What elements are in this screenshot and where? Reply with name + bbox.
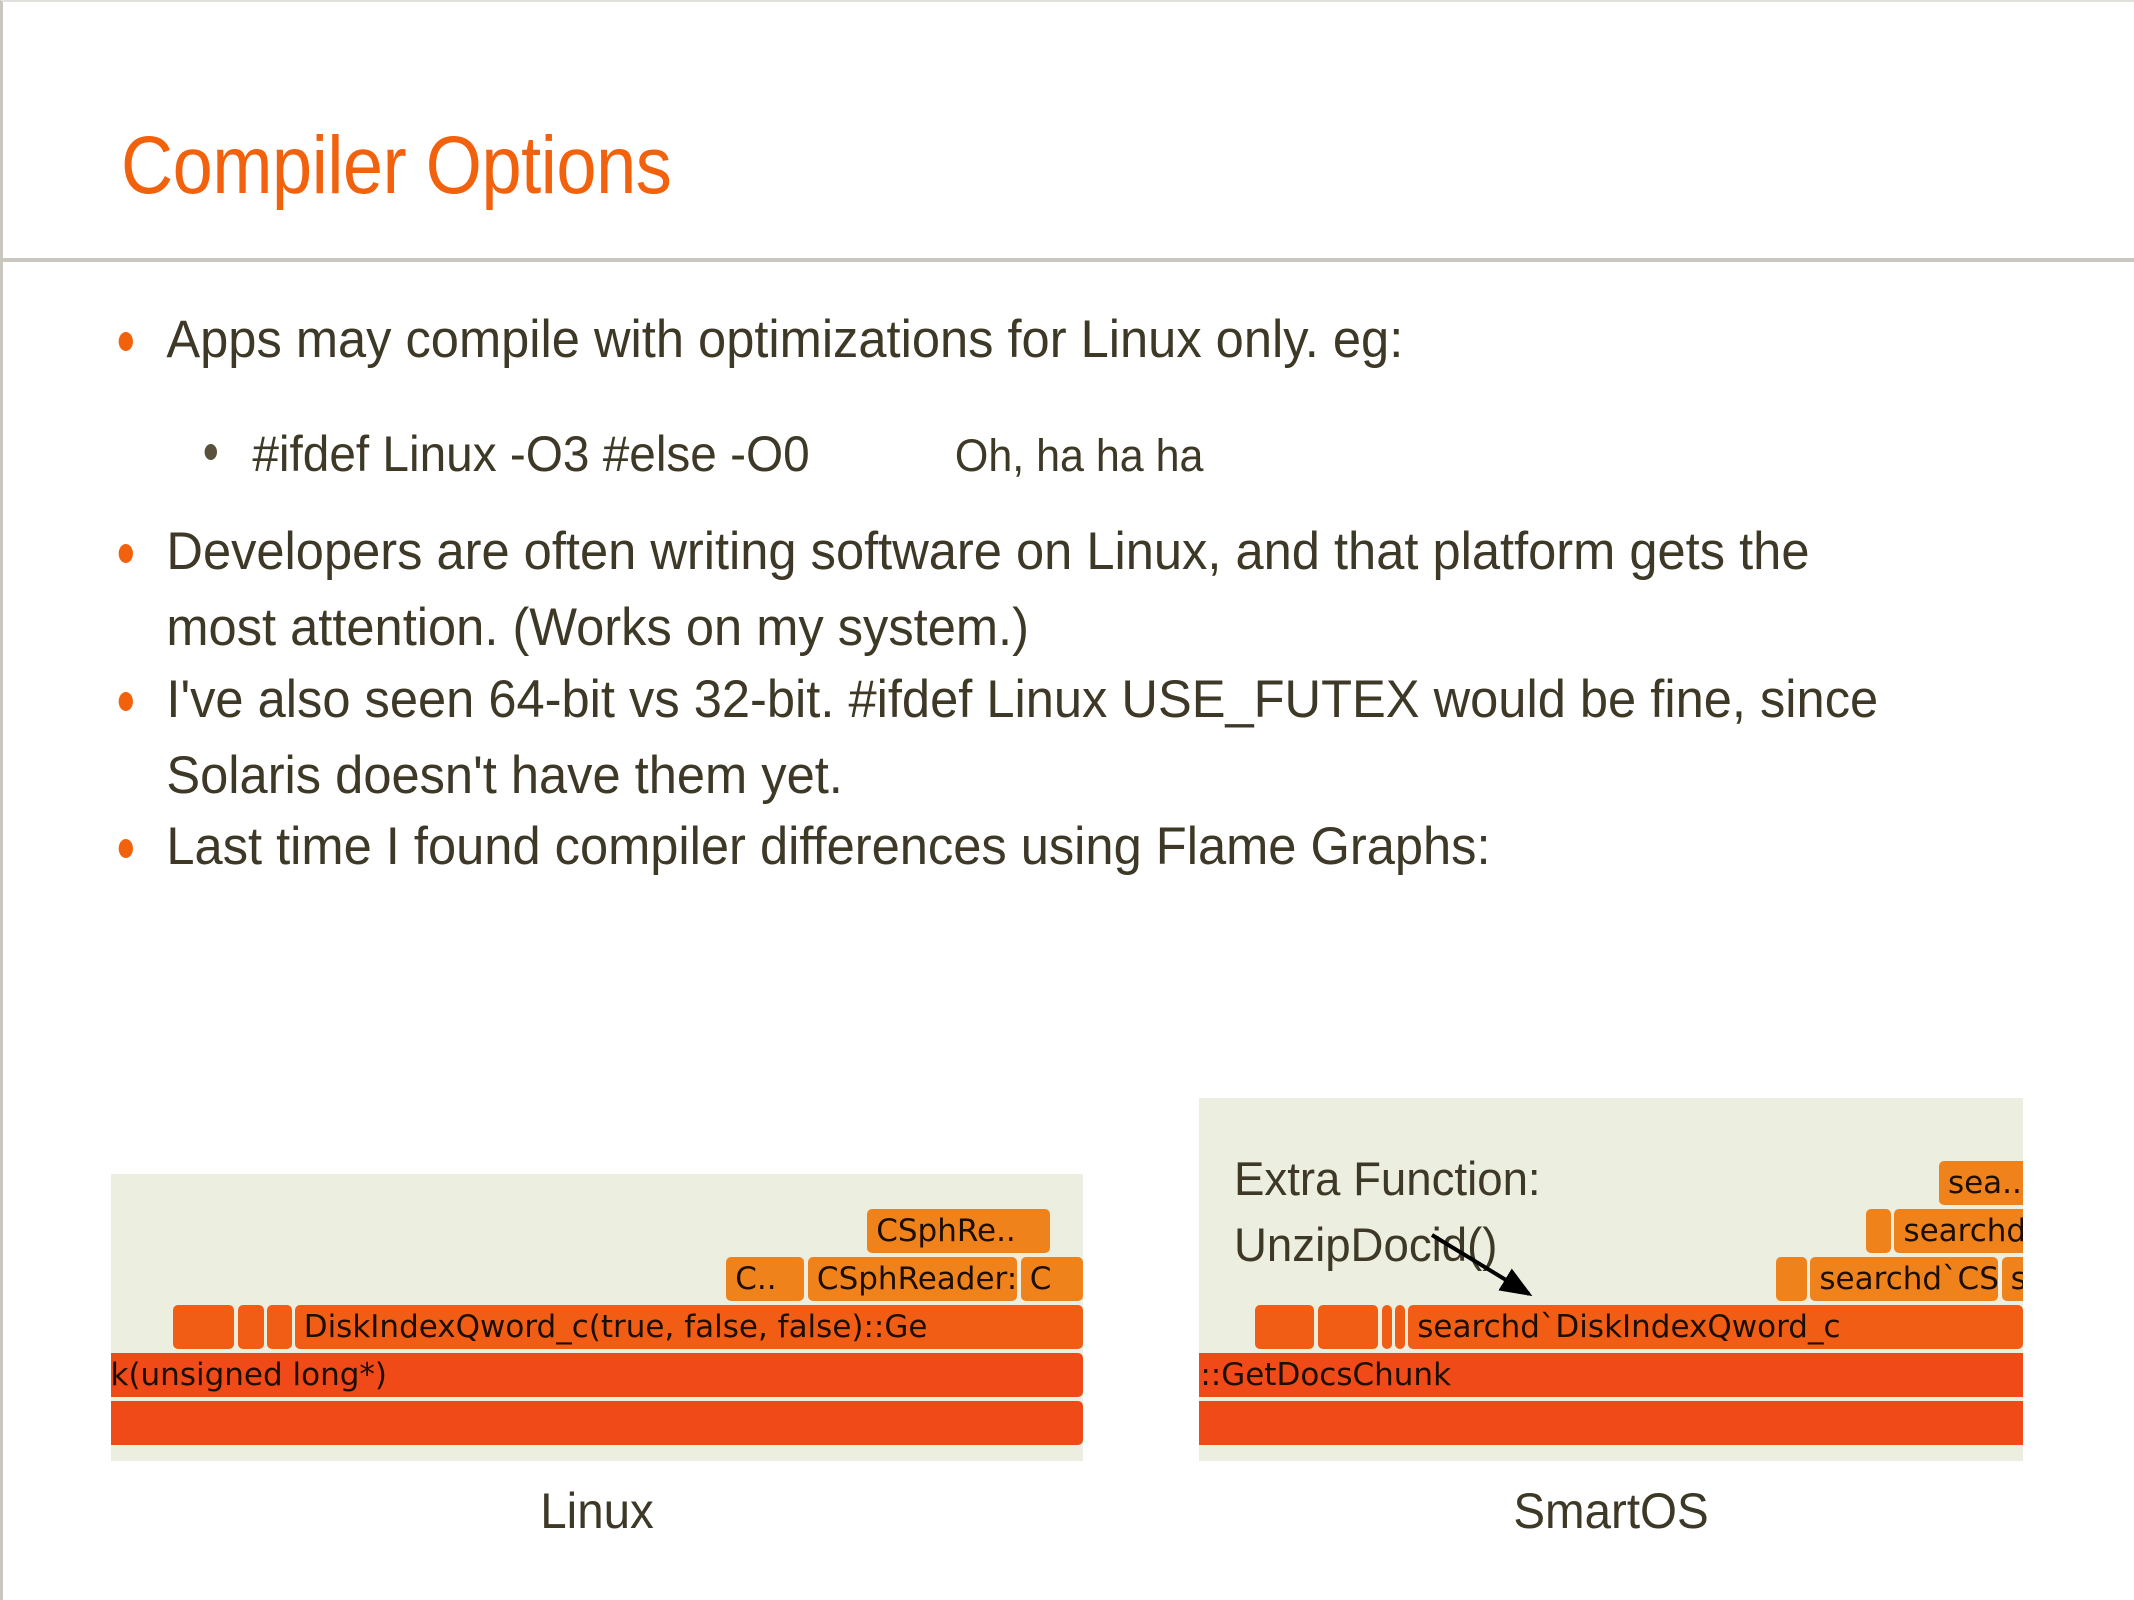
- flamegraph-frame[interactable]: [1255, 1305, 1314, 1349]
- bullet-text: #ifdef Linux -O3 #else -O0: [252, 426, 809, 482]
- flamegraph-frame[interactable]: [111, 1401, 1083, 1445]
- flamegraph-frame[interactable]: C: [1021, 1257, 1083, 1301]
- flamegraph-linux-caption: Linux: [135, 1482, 1058, 1540]
- flamegraph-smartos[interactable]: Extra Function: UnzipDocid() searchd`Dis…: [1199, 1098, 2023, 1461]
- flamegraph-frame[interactable]: [1318, 1305, 1377, 1349]
- bullet-dot-icon: [119, 839, 133, 858]
- title-divider: [3, 258, 2134, 262]
- flamegraph-frame[interactable]: [1776, 1257, 1807, 1301]
- flamegraph-frame[interactable]: C..: [726, 1257, 804, 1301]
- extra-function-annotation: Extra Function: UnzipDocid(): [1234, 1146, 1541, 1278]
- flamegraph-frame[interactable]: CSphReader::Unzi..: [808, 1257, 1017, 1301]
- flamegraph-frame[interactable]: [1866, 1209, 1891, 1253]
- bullet-text: Developers are often writing software on…: [166, 522, 1823, 657]
- slide: Compiler Options Apps may compile with o…: [0, 0, 2134, 1600]
- bullet-aside-text: Oh, ha ha ha: [955, 430, 1203, 481]
- flamegraph-frame[interactable]: s: [2002, 1257, 2023, 1301]
- bullet-text: Last time I found compiler differences u…: [166, 817, 1490, 876]
- flamegraph-frame[interactable]: searchd`..: [1894, 1209, 2023, 1253]
- flamegraph-frame[interactable]: [267, 1305, 292, 1349]
- flamegraph-frame[interactable]: searchd`CS..: [1810, 1257, 1998, 1301]
- flamegraph-frame[interactable]: c::GetDocsChunk: [1199, 1353, 2023, 1397]
- list-item: Developers are often writing software on…: [111, 514, 1933, 666]
- flamegraph-linux[interactable]: DiskIndexQword_c(true, false, false)::Ge…: [111, 1174, 1083, 1461]
- flamegraph-frame[interactable]: [238, 1305, 263, 1349]
- list-item: I've also seen 64-bit vs 32-bit. #ifdef …: [111, 662, 1981, 814]
- flamegraph-frame[interactable]: [1199, 1401, 2023, 1445]
- bullet-text: Apps may compile with optimizations for …: [166, 310, 1403, 369]
- flamegraph-frame[interactable]: searchd`DiskIndexQword_c: [1408, 1305, 2023, 1349]
- bullet-dot-icon: [119, 332, 133, 351]
- flamegraph-frame[interactable]: [173, 1305, 234, 1349]
- page-title: Compiler Options: [121, 120, 671, 212]
- list-item: Last time I found compiler differences u…: [111, 809, 1981, 885]
- flamegraph-frame[interactable]: [1382, 1305, 1392, 1349]
- flamegraph-frame[interactable]: sea..: [1939, 1161, 2023, 1205]
- flamegraph-frame[interactable]: CSphRe..: [867, 1209, 1050, 1253]
- bullet-dot-icon: [205, 444, 217, 460]
- list-item-sub: #ifdef Linux -O3 #else -O0Oh, ha ha ha: [111, 416, 2067, 494]
- bullet-dot-icon: [119, 692, 133, 711]
- bullet-dot-icon: [119, 544, 133, 563]
- flamegraph-frame[interactable]: nk(unsigned long*): [111, 1353, 1083, 1397]
- bullet-text: I've also seen 64-bit vs 32-bit. #ifdef …: [166, 670, 1892, 805]
- flamegraph-frame[interactable]: DiskIndexQword_c(true, false, false)::Ge: [295, 1305, 1083, 1349]
- list-item: Apps may compile with optimizations for …: [111, 302, 1981, 378]
- flamegraph-frame[interactable]: [1395, 1305, 1405, 1349]
- flamegraph-smartos-caption: SmartOS: [1220, 1482, 2003, 1540]
